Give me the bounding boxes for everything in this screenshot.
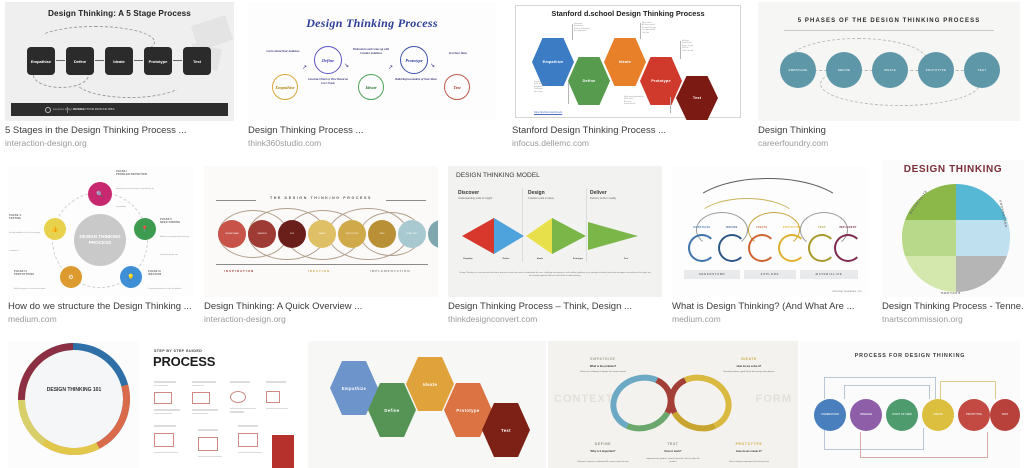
leader-line <box>670 97 671 113</box>
node-ideate: Ideate <box>358 74 384 100</box>
node-ideate: IDEATE <box>922 399 954 431</box>
search-result-tile[interactable]: Stanford d.school Design Thinking Proces… <box>512 2 744 149</box>
thumb-icon: 👍 <box>44 218 66 240</box>
leader-line <box>680 41 681 59</box>
idf-logo-icon <box>45 107 51 113</box>
step-define: Define <box>496 258 516 260</box>
result-title[interactable]: Design Thinking: A Quick Overview ... <box>204 301 438 313</box>
result-caption: Design Thinking Process – Think, Design … <box>448 297 662 325</box>
rule-bottom <box>216 264 428 265</box>
question-ideate: How do we solve it? <box>722 365 776 368</box>
thumb-heading: DESIGN THINKING MODEL <box>456 172 540 179</box>
diamond-right-green <box>552 218 586 254</box>
process-cell <box>266 381 294 417</box>
result-thumbnail[interactable]: Design Thinking: A 5 Stage Process Empat… <box>5 2 234 121</box>
heading-rule <box>784 30 994 31</box>
thumb-heading: Stanford d.school Design Thinking Proces… <box>512 9 744 18</box>
center-label: DESIGN THINKING 101 <box>44 387 104 393</box>
process-cell <box>154 425 186 461</box>
question-define: Why is it important? <box>576 450 630 453</box>
result-caption: What is Design Thinking? (And What Are .… <box>672 297 868 325</box>
footer-brand: INTERACTION-DESIGN.ORG <box>73 108 115 111</box>
phase-implement: IMPLEMENT <box>836 226 860 229</box>
result-caption: Stanford Design Thinking Process ... inf… <box>512 121 744 149</box>
leader-line <box>568 82 569 104</box>
leader-line <box>640 23 641 39</box>
wheel-hub: DESIGN THINKING PROCESS <box>74 214 126 266</box>
result-site[interactable]: thinkdesignconvert.com <box>448 313 662 325</box>
diamond-left-red <box>462 218 494 254</box>
clipboard-icon <box>808 234 836 262</box>
phase-caption: PHASE IVPROTOTYPING Build prototypes of … <box>14 270 50 294</box>
search-result-tile[interactable]: EMPATHIZE DEFINE IDEATE PROTOTYPE TEST I… <box>672 166 868 325</box>
process-cell <box>154 381 186 417</box>
question-prototype: How do we create it? <box>722 450 776 453</box>
answer-empathize: Define the challenge & explore the human… <box>574 371 632 374</box>
thumb-heading: Design Thinking: A 5 Stage Process <box>5 9 234 18</box>
outer-word-explore: EXPLORE <box>940 291 960 295</box>
process-cell <box>230 381 262 417</box>
result-title[interactable]: Design Thinking <box>758 125 1020 137</box>
result-caption: Design Thinking Process ... think360stud… <box>248 121 496 149</box>
process-cell <box>192 381 224 417</box>
tool-icon <box>778 234 806 262</box>
ring-segment-define <box>8 341 138 468</box>
rocket-icon <box>834 234 862 262</box>
phase-ideate: IDEATE <box>872 52 908 88</box>
result-thumbnail[interactable]: PROCESS FOR DESIGN THINKING UNDERSTAND O… <box>800 341 1020 468</box>
node-prototype: PROTOTYPE <box>958 399 990 431</box>
wire-path <box>860 432 988 458</box>
result-thumbnail[interactable]: DESIGN THINKING MATERIALIZE UNDERSTAND E… <box>882 160 1024 297</box>
node-point-of-view: POINT OF VIEW <box>886 399 918 431</box>
callout-empathize: InterviewsShadowing Seek to understandNo… <box>574 24 614 34</box>
stage-box: Empathise <box>27 47 55 75</box>
connector <box>134 60 143 61</box>
thumb-heading: 5 PHASES OF THE DESIGN THINKING PROCESS <box>758 18 1020 24</box>
node-test: TEST <box>368 220 396 248</box>
search-result-tile[interactable]: DESIGN THINKING PROCESS 🔍 📍 💡 ⚙ 👍 PHASE … <box>8 166 193 325</box>
note-text: Test Your Ideas <box>438 52 478 56</box>
wire-path <box>844 385 930 399</box>
gear-icon: ⚙ <box>60 266 82 288</box>
question-empathize: What is the problem? <box>576 365 630 368</box>
pin-icon: 📍 <box>134 218 156 240</box>
leader-line <box>572 24 573 40</box>
phase-ideate: IDEATE <box>750 226 774 229</box>
result-caption: Design Thinking: A Quick Overview ... in… <box>204 297 438 325</box>
result-site[interactable]: medium.com <box>672 313 868 325</box>
stage-box: Prototype <box>144 47 172 75</box>
band-explore: EXPLORE <box>744 270 796 279</box>
result-thumbnail[interactable]: Stanford d.school Design Thinking Proces… <box>512 2 744 121</box>
node-observe: OBSERVE <box>850 399 882 431</box>
search-result-tile[interactable]: PROCESS FOR DESIGN THINKING UNDERSTAND O… <box>800 341 1020 468</box>
search-result-tile[interactable]: 5 PHASES OF THE DESIGN THINKING PROCESS … <box>758 2 1020 149</box>
footnote: Design Thinking is an iterative and non-… <box>458 272 652 278</box>
node-prototype: PROTOTYPE <box>338 220 366 248</box>
node-build: BUILD <box>428 220 438 248</box>
person-icon <box>688 234 716 262</box>
phase-test: TEST <box>964 52 1000 88</box>
result-caption: Design Thinking Process - Tenne... tnart… <box>882 297 1024 325</box>
result-thumbnail[interactable]: CONTEXT FORM EMPATHIZE What is the probl… <box>548 341 798 468</box>
phase-empathize: EMPATHIZE <box>576 357 630 361</box>
process-cell <box>238 425 270 463</box>
result-site[interactable]: think360studio.com <box>248 137 496 149</box>
result-site[interactable]: careerfoundry.com <box>758 137 1020 149</box>
phase-ideate: IDEATE <box>722 357 776 361</box>
note-text: Construct Point of View Based on User Ne… <box>306 78 350 85</box>
phase-empathize: EMPATHIZE <box>690 226 714 229</box>
node-test: Test <box>444 74 470 100</box>
phase-define: DEFINE <box>720 226 744 229</box>
node-understand: UNDERSTAND <box>814 399 846 431</box>
note-text: Build Representation of Your Ideas <box>394 78 438 82</box>
phase-caption: PHASE VTESTING Getting feedback on the f… <box>9 214 41 256</box>
credit-text: DESIGN THINKING 101 <box>832 291 862 293</box>
bulb-icon: 💡 <box>120 266 142 288</box>
callout-define: PersonasBuild objectives StandardsChalle… <box>534 82 568 94</box>
phase-define: DEFINE <box>576 442 630 446</box>
section-design: DesignCreation ends in ideas <box>528 190 586 200</box>
search-result-tile[interactable]: Design Thinking Process Empathise Define… <box>248 2 496 149</box>
result-thumbnail[interactable]: DESIGN THINKING 101 <box>8 341 138 468</box>
result-thumbnail[interactable]: Design Thinking Process Empathise Define… <box>248 2 496 121</box>
result-title[interactable]: Design Thinking Process – Think, Design … <box>448 301 662 313</box>
divider <box>586 188 587 262</box>
arrow-icon: ↗ <box>388 64 393 71</box>
search-result-tile[interactable]: Design Thinking: A 5 Stage Process Empat… <box>5 2 234 149</box>
note-text: Learn About Your Audience <box>263 50 303 54</box>
result-thumbnail[interactable]: Empathize Define Ideate Prototype Test <box>308 341 546 468</box>
result-site[interactable]: tnartscommission.org <box>882 313 1024 325</box>
rule-right <box>386 200 426 201</box>
result-title[interactable]: How do we structure the Design Thinking … <box>8 301 193 313</box>
node-final-test: FINAL TEST <box>398 220 426 248</box>
search-result-tile[interactable]: DESIGN THINKING MODEL DiscoverUnderstand… <box>448 166 662 325</box>
phase-caption: PHASE IIIIDEATION Creating many ideas to… <box>148 270 182 294</box>
phase-prototype: PROTOTYPE <box>918 52 954 88</box>
search-result-tile[interactable]: Empathize Define Ideate Prototype Test <box>308 341 546 468</box>
kicker-text: STEP BY STEP GUIDED <box>154 349 202 353</box>
stage-box: Define <box>66 47 94 75</box>
quadrant-prototype <box>902 256 956 292</box>
answer-ideate: Brainstorm ideas, good & bad, don't stop… <box>720 371 778 374</box>
search-result-tile[interactable]: STEP BY STEP GUIDED PROCESS <box>150 341 296 468</box>
result-title[interactable]: What is Design Thinking? (And What Are .… <box>672 301 868 313</box>
arrow-deliver-green <box>588 222 638 250</box>
band-inspiration: INSPIRATION <box>224 269 254 273</box>
rule-left <box>216 200 256 201</box>
step-test: Test <box>616 258 636 260</box>
phase-test: TEST <box>810 226 834 229</box>
result-thumbnail[interactable]: STEP BY STEP GUIDED PROCESS <box>150 341 296 468</box>
result-title[interactable]: Stanford Design Thinking Process ... <box>512 125 744 137</box>
quadrant-test <box>902 220 956 257</box>
arrow-icon: ↗ <box>302 64 307 71</box>
thumb-heading: Design Thinking Process <box>248 16 496 31</box>
stage-box: Ideate <box>105 47 133 75</box>
phase-test: TEST <box>646 442 700 446</box>
band-ideation: IDEATION <box>308 269 330 273</box>
phase-prototype: PROTOTYPE <box>780 226 804 229</box>
section-discover: DiscoverUnderstanding ends in insight <box>458 190 522 200</box>
thumb-footer-bar: Interaction Design Foundation INTERACTIO… <box>11 103 228 116</box>
stage-box: Test <box>183 47 211 75</box>
band-understand: UNDERSTAND <box>684 270 740 279</box>
thumb-heading: PROCESS FOR DESIGN THINKING <box>800 353 1020 359</box>
thumb-heading: PROCESS <box>153 354 215 369</box>
callout-ideate: Share ideasAll ideas quality Diverge/Con… <box>642 23 682 35</box>
phase-empathize: EMPATHIZE <box>780 52 816 88</box>
result-caption: How do we structure the Design Thinking … <box>8 297 193 325</box>
phase-prototype: PROTOTYPE <box>722 442 776 446</box>
step-prototype: Prototype <box>568 258 588 260</box>
phase-caption: PHASE IINEED FINDING Building up empathy… <box>160 218 192 260</box>
band-implementation: IMPLEMENTATION <box>370 269 411 273</box>
wire-path <box>940 381 996 399</box>
node-prototype: Prototype <box>400 46 428 74</box>
highlight-card <box>272 435 294 468</box>
result-thumbnail[interactable]: EMPATHIZE DEFINE IDEATE PROTOTYPE TEST I… <box>672 166 868 297</box>
step-ideate: Ideate <box>530 258 550 260</box>
arrow-icon: ↘ <box>344 62 349 69</box>
search-result-tile[interactable]: CONTEXT FORM EMPATHIZE What is the probl… <box>548 341 798 468</box>
answer-define: Research, observe, understand & create a… <box>574 461 632 464</box>
hex-ideate: Ideate <box>406 357 454 411</box>
result-caption: 5 Stages in the Design Thinking Process … <box>5 121 234 149</box>
result-title[interactable]: 5 Stages in the Design Thinking Process … <box>5 125 234 137</box>
phase-define: DEFINE <box>826 52 862 88</box>
diamond-right-yellow <box>526 218 552 254</box>
node-ideate: IDEATE <box>308 220 336 248</box>
result-site[interactable]: infocus.dellemc.com <box>512 137 744 149</box>
result-site[interactable]: medium.com <box>8 313 193 325</box>
search-result-tile[interactable]: DESIGN THINKING MATERIALIZE UNDERSTAND E… <box>882 160 1024 325</box>
result-thumbnail[interactable]: 5 PHASES OF THE DESIGN THINKING PROCESS … <box>758 2 1020 121</box>
ghost-form: FORM <box>756 393 792 405</box>
node-test: TEST <box>990 399 1020 431</box>
question-test: Does it work? <box>646 450 700 453</box>
search-result-tile[interactable]: THE DESIGN THINKING PROCESS UNDERSTAND O… <box>204 166 438 325</box>
result-title[interactable]: Design Thinking Process ... <box>248 125 496 137</box>
result-caption: Design Thinking careerfoundry.com <box>758 121 1020 149</box>
ghost-context: CONTEXT <box>554 393 614 405</box>
loop-right <box>661 366 739 439</box>
source-link[interactable]: https://dschool.stanford.edu <box>534 112 562 114</box>
thumb-heading: DESIGN THINKING <box>882 164 1024 175</box>
connector <box>56 60 65 61</box>
node-pov: POV <box>278 220 306 248</box>
result-title[interactable]: Design Thinking Process - Tenne... <box>882 301 1024 313</box>
node-empathise: Empathise <box>272 74 298 100</box>
answer-test: Implement the product, show & don't tell… <box>644 458 702 464</box>
node-understand: UNDERSTAND <box>218 220 246 248</box>
quadrant-define <box>956 220 1010 257</box>
image-search-results-grid: Design Thinking: A 5 Stage Process Empat… <box>0 0 1024 468</box>
callout-test: Understand impedimentsWhat works? Role p… <box>624 97 668 107</box>
result-site[interactable]: interaction-design.org <box>5 137 234 149</box>
note-text: Brainstorm and Come up with Creative Sol… <box>348 48 394 55</box>
result-thumbnail[interactable]: THE DESIGN THINKING PROCESS UNDERSTAND O… <box>204 166 438 297</box>
connector <box>173 60 182 61</box>
magnifier-icon: 🔍 <box>88 182 112 206</box>
callout-prototype: MockupsStoryboards Keep it simpleFail fa… <box>682 41 722 53</box>
node-define: Define <box>314 46 342 74</box>
diamond-left-blue <box>494 218 524 254</box>
step-empathy: Empathy <box>458 258 478 260</box>
section-deliver: DeliverDelivery ends in reality <box>590 190 650 200</box>
result-thumbnail[interactable]: DESIGN THINKING PROCESS 🔍 📍 💡 ⚙ 👍 PHASE … <box>8 166 193 297</box>
node-observe: OBSERVE <box>248 220 276 248</box>
arrow-icon: ↘ <box>430 62 435 69</box>
answer-prototype: Start creating, experiment, fail cheap &… <box>720 461 778 464</box>
quadrant-ideate <box>956 256 1010 292</box>
process-cell <box>198 429 230 463</box>
band-materialize: MATERIALIZE <box>800 270 858 279</box>
divider <box>67 107 68 113</box>
magnifier-icon <box>718 234 746 262</box>
connector <box>95 60 104 61</box>
phase-caption: PHASE IPROBLEM DEFINITION Detecting a fo… <box>116 170 156 212</box>
search-result-tile[interactable]: DESIGN THINKING 101 <box>8 341 138 468</box>
result-thumbnail[interactable]: DESIGN THINKING MODEL DiscoverUnderstand… <box>448 166 662 297</box>
result-site[interactable]: interaction-design.org <box>204 313 438 325</box>
bulb-icon <box>748 234 776 262</box>
